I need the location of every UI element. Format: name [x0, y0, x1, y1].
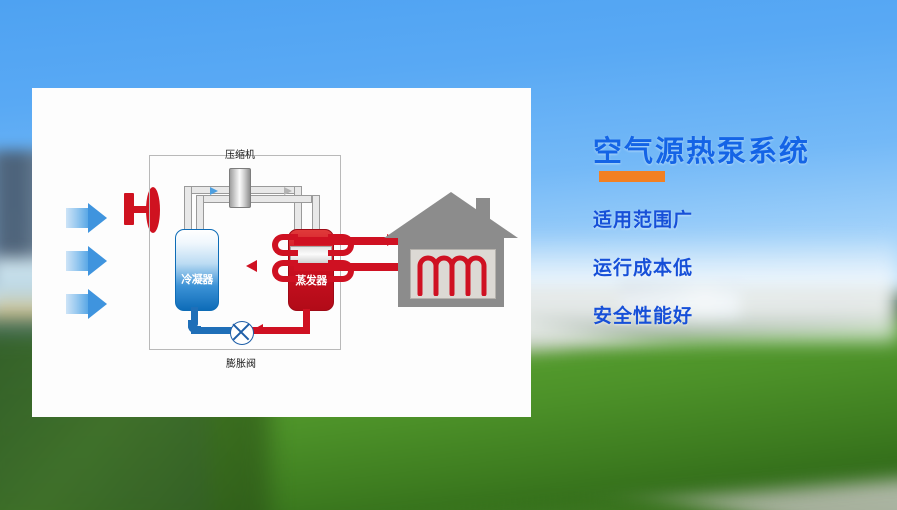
feature-list: 适用范围广 运行成本低 安全性能好 — [593, 205, 693, 349]
diagram-panel: 压缩机 冷凝器 蒸发器 膨胀阀 — [32, 88, 531, 417]
pipe-down-to-condenser — [184, 186, 192, 234]
house-illustration — [384, 192, 519, 307]
title-underline-rule — [599, 171, 665, 182]
flow-arrow-icon — [210, 187, 218, 195]
pipe-discharge-inner — [250, 195, 312, 203]
expansion-valve-label: 膨胀阀 — [218, 355, 264, 370]
arrow-head — [88, 203, 107, 233]
air-arrow-icon — [66, 289, 107, 319]
flow-arrow-icon — [254, 324, 263, 334]
arrow-tail — [66, 208, 88, 228]
pipe-hot-up-evaporator — [303, 309, 310, 334]
arrow-head — [88, 289, 107, 319]
pipe-cold-elbow — [188, 320, 201, 333]
air-arrow-icon — [66, 246, 107, 276]
arrow-tail — [66, 294, 88, 314]
list-item: 适用范围广 — [593, 205, 693, 232]
arrow-tail — [66, 251, 88, 271]
condenser-unit — [175, 229, 219, 311]
flow-arrow-icon — [246, 260, 257, 272]
condenser-label: 冷凝器 — [175, 271, 219, 287]
arrow-head — [88, 246, 107, 276]
compressor-unit — [229, 168, 251, 208]
list-item: 运行成本低 — [593, 253, 693, 280]
air-arrow-icon — [66, 203, 107, 233]
list-item: 安全性能好 — [593, 301, 693, 328]
roof — [384, 192, 518, 238]
page-title: 空气源热泵系统 — [593, 128, 810, 170]
pipe-down-to-evaporator — [294, 186, 302, 234]
compressor-label: 压缩机 — [220, 146, 260, 161]
slide-canvas: 压缩机 冷凝器 蒸发器 膨胀阀 — [0, 0, 897, 510]
expansion-valve-icon — [230, 321, 254, 345]
underfloor-heating-coil — [416, 254, 492, 296]
flow-arrow-icon — [284, 187, 292, 195]
